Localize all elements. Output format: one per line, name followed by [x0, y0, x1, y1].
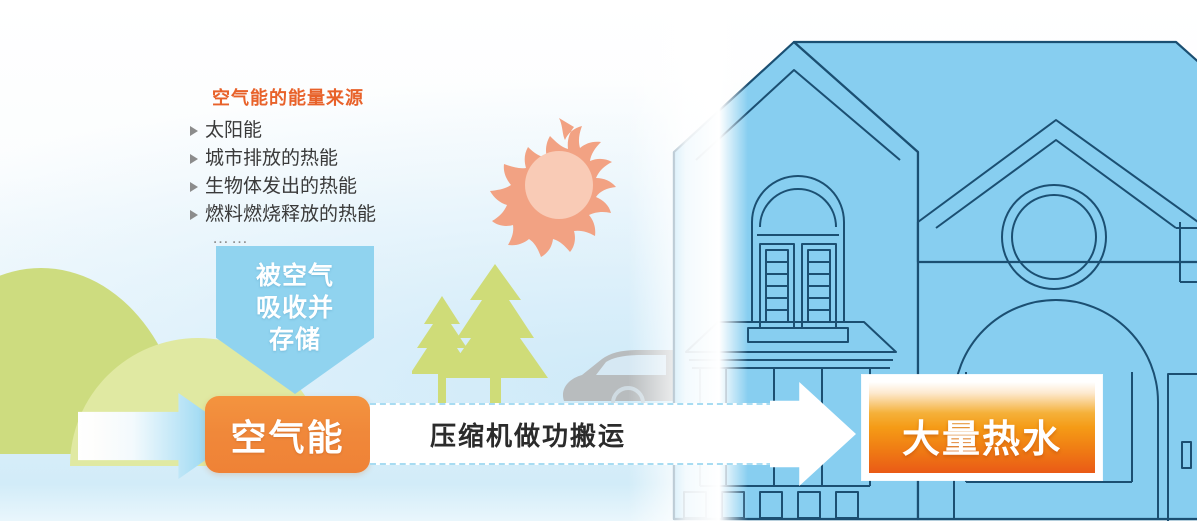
transport-arrow-label: 压缩机做功搬运 — [430, 416, 770, 453]
legend-item-label: 燃料燃烧释放的热能 — [205, 202, 376, 229]
absorb-arrow-line: 被空气 — [256, 260, 334, 292]
legend-item-label: 太阳能 — [205, 118, 262, 145]
source-box-label: 空气能 — [230, 409, 344, 461]
legend-item-label: 城市排放的热能 — [205, 146, 338, 173]
triangle-bullet-icon — [190, 182, 198, 192]
energy-source-legend: 空气能的能量来源 太阳能 城市排放的热能 生物体发出的热能 燃料燃烧释放的热能 … — [190, 84, 470, 248]
legend-item-label: 生物体发出的热能 — [205, 174, 357, 201]
pine-trees — [412, 256, 564, 416]
legend-title: 空气能的能量来源 — [212, 84, 470, 110]
triangle-bullet-icon — [190, 210, 198, 220]
triangle-bullet-icon — [190, 126, 198, 136]
legend-item: 燃料燃烧释放的热能 — [190, 202, 470, 229]
absorb-arrow-line: 吸收并 — [256, 292, 334, 324]
legend-item: 生物体发出的热能 — [190, 174, 470, 201]
legend-item: 城市排放的热能 — [190, 146, 470, 173]
source-box: 空气能 — [205, 396, 370, 473]
result-box-label: 大量热水 — [902, 408, 1062, 463]
absorb-arrow-line: 存储 — [269, 324, 321, 356]
legend-ellipsis: …… — [212, 228, 470, 248]
sun-icon — [486, 112, 632, 258]
legend-item: 太阳能 — [190, 118, 470, 145]
result-box: 大量热水 — [862, 375, 1102, 480]
infographic-canvas: 空气能的能量来源 太阳能 城市排放的热能 生物体发出的热能 燃料燃烧释放的热能 … — [0, 0, 1197, 521]
triangle-bullet-icon — [190, 154, 198, 164]
